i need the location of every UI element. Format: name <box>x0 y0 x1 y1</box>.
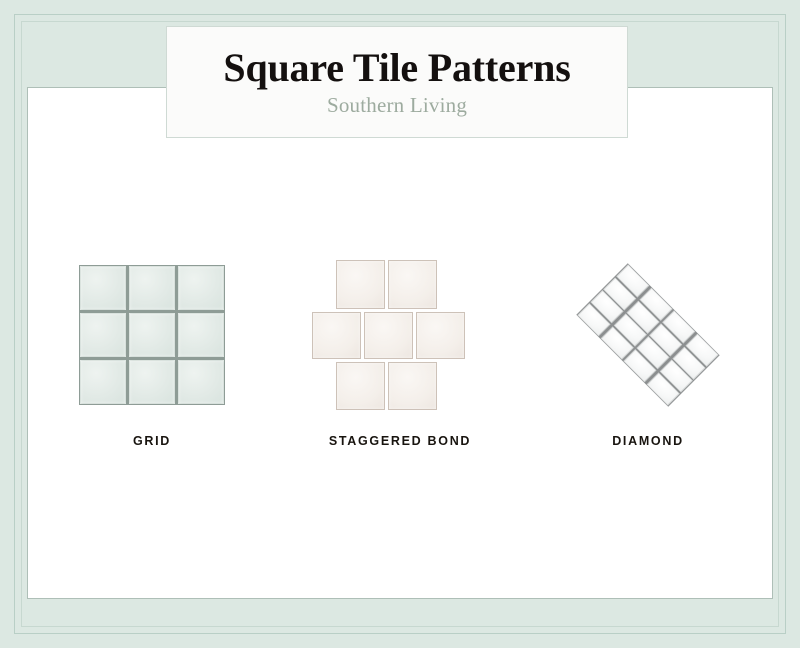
tile <box>80 313 126 357</box>
tile <box>80 360 126 404</box>
page-title: Square Tile Patterns <box>223 47 570 89</box>
pattern-label-staggered-bond: STAGGERED BOND <box>329 434 471 448</box>
tile <box>178 266 224 310</box>
pattern-item-staggered-bond: STAGGERED BOND <box>276 250 524 490</box>
tile <box>129 360 175 404</box>
pattern-item-diamond: DIAMOND <box>524 250 772 490</box>
staggered-bond-tile-field <box>312 260 488 410</box>
tile <box>129 266 175 310</box>
tile <box>178 313 224 357</box>
tile <box>388 260 437 309</box>
grid-tile-field <box>79 265 225 405</box>
tile <box>336 362 385 410</box>
tile <box>178 360 224 404</box>
tile <box>80 266 126 310</box>
pattern-label-grid: GRID <box>133 434 171 448</box>
pattern-label-diamond: DIAMOND <box>612 434 684 448</box>
brand-wordmark: Southern Living <box>327 93 467 118</box>
diamond-illustration <box>550 250 746 420</box>
diamond-tile-field <box>550 283 746 387</box>
tile <box>416 312 465 359</box>
tile <box>364 312 413 359</box>
tile <box>336 260 385 309</box>
tile <box>312 312 361 359</box>
tile <box>388 362 437 410</box>
diamond-lattice <box>576 263 719 406</box>
pattern-gallery: GRID STAGGERED BOND <box>28 250 772 490</box>
staggered-bond-illustration <box>312 250 488 420</box>
grid-illustration <box>79 250 225 420</box>
title-card: Square Tile Patterns Southern Living <box>167 27 627 137</box>
pattern-item-grid: GRID <box>28 250 276 490</box>
tile <box>129 313 175 357</box>
